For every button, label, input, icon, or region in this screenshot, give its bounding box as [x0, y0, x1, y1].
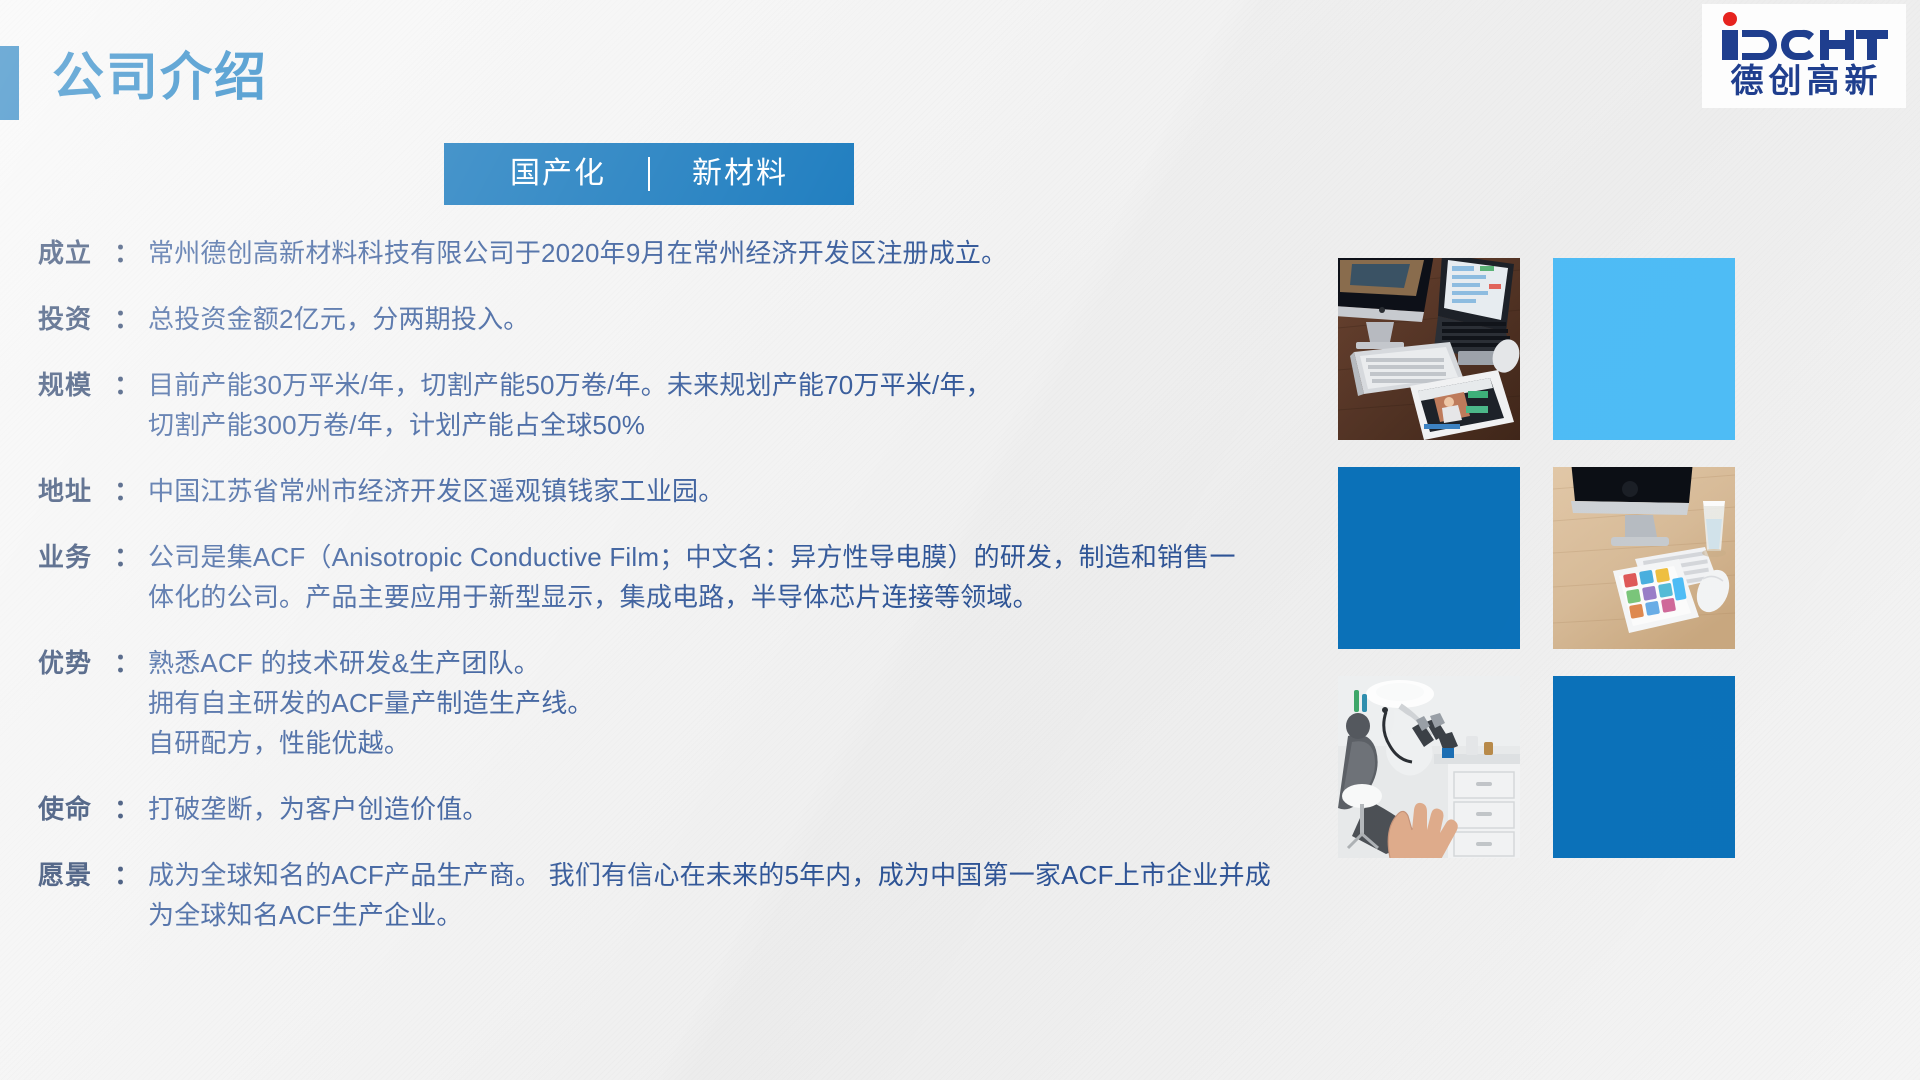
entry-line: 常州德创高新材料科技有限公司于2020年9月在常州经济开发区注册成立。 [148, 233, 1007, 273]
entry-line: 拥有自主研发的ACF量产制造生产线。 [148, 683, 594, 723]
light-blue-block [1553, 258, 1735, 440]
entry-line: 打破垄断，为客户创造价值。 [148, 789, 489, 829]
info-entry-business: 业务 ： 公司是集ACF（Anisotropic Conductive Film… [38, 537, 1318, 617]
entry-colon: ： [114, 299, 148, 339]
entry-body: 常州德创高新材料科技有限公司于2020年9月在常州经济开发区注册成立。 [148, 233, 1007, 273]
dental-equipment-hand-photo [1338, 676, 1520, 858]
entry-body: 目前产能30万平米/年，切割产能50万卷/年。未来规划产能70万平米/年， 切割… [148, 365, 992, 445]
entry-line: 熟悉ACF 的技术研发&生产团队。 [148, 643, 594, 683]
entry-line: 中国江苏省常州市经济开发区遥观镇钱家工业园。 [148, 471, 724, 511]
entry-label: 投资 [38, 299, 114, 339]
entry-colon: ： [114, 471, 148, 511]
tagline-divider [648, 157, 650, 191]
entry-line: 成为全球知名的ACF产品生产商。 我们有信心在未来的5年内，成为中国第一家ACF… [148, 855, 1271, 895]
entry-line: 总投资金额2亿元，分两期投入。 [148, 299, 529, 339]
blue-block [1338, 467, 1520, 649]
entry-label: 使命 [38, 789, 114, 829]
info-entry-advantages: 优势 ： 熟悉ACF 的技术研发&生产团队。 拥有自主研发的ACF量产制造生产线… [38, 643, 1318, 763]
info-entry-vision: 愿景 ： 成为全球知名的ACF产品生产商。 我们有信心在未来的5年内，成为中国第… [38, 855, 1318, 935]
blue-block [1553, 676, 1735, 858]
entry-body: 打破垄断，为客户创造价值。 [148, 789, 489, 829]
entry-body: 成为全球知名的ACF产品生产商。 我们有信心在未来的5年内，成为中国第一家ACF… [148, 855, 1271, 935]
company-logo: 德创高新 [1702, 4, 1906, 108]
entry-colon: ： [114, 643, 148, 683]
entry-line: 目前产能30万平米/年，切割产能50万卷/年。未来规划产能70万平米/年， [148, 365, 992, 405]
info-entry-mission: 使命 ： 打破垄断，为客户创造价值。 [38, 789, 1318, 829]
entry-colon: ： [114, 537, 148, 577]
tagline-banner: 国产化 新材料 [444, 143, 854, 205]
tagline-right: 新材料 [692, 143, 788, 205]
entry-label: 规模 [38, 365, 114, 405]
entry-colon: ： [114, 365, 148, 405]
entry-colon: ： [114, 233, 148, 273]
entry-label: 业务 [38, 537, 114, 577]
entry-line: 切割产能300万卷/年，计划产能占全球50% [148, 405, 992, 445]
entry-label: 成立 [38, 233, 114, 273]
desk-imac-laptop-tablet-photo [1338, 258, 1520, 440]
desk-imac-tablet-mouse-photo [1553, 467, 1735, 649]
logo-subtitle: 德创高新 [1726, 62, 1883, 100]
entry-line: 自研配方，性能优越。 [148, 723, 594, 763]
image-gallery-grid [1338, 258, 1735, 858]
tagline-left: 国产化 [510, 143, 606, 205]
dcht-wordmark-icon [1718, 12, 1890, 60]
info-entry-scale: 规模 ： 目前产能30万平米/年，切割产能50万卷/年。未来规划产能70万平米/… [38, 365, 1318, 445]
entry-line: 体化的公司。产品主要应用于新型显示，集成电路，半导体芯片连接等领域。 [148, 577, 1236, 617]
entry-body: 熟悉ACF 的技术研发&生产团队。 拥有自主研发的ACF量产制造生产线。 自研配… [148, 643, 594, 763]
company-info-list: 成立 ： 常州德创高新材料科技有限公司于2020年9月在常州经济开发区注册成立。… [38, 233, 1318, 961]
entry-label: 愿景 [38, 855, 114, 895]
info-entry-investment: 投资 ： 总投资金额2亿元，分两期投入。 [38, 299, 1318, 339]
entry-body: 公司是集ACF（Anisotropic Conductive Film；中文名：… [148, 537, 1236, 617]
slide-canvas: 公司介绍 德创高新 国产化 [0, 0, 1920, 1080]
entry-label: 优势 [38, 643, 114, 683]
entry-colon: ： [114, 855, 148, 895]
entry-line: 为全球知名ACF生产企业。 [148, 895, 1271, 935]
page-title: 公司介绍 [52, 40, 268, 116]
entry-body: 总投资金额2亿元，分两期投入。 [148, 299, 529, 339]
entry-colon: ： [114, 789, 148, 829]
entry-label: 地址 [38, 471, 114, 511]
entry-body: 中国江苏省常州市经济开发区遥观镇钱家工业园。 [148, 471, 724, 511]
entry-line: 公司是集ACF（Anisotropic Conductive Film；中文名：… [148, 537, 1236, 577]
info-entry-establishment: 成立 ： 常州德创高新材料科技有限公司于2020年9月在常州经济开发区注册成立。 [38, 233, 1318, 273]
title-accent-bar [0, 46, 19, 120]
info-entry-address: 地址 ： 中国江苏省常州市经济开发区遥观镇钱家工业园。 [38, 471, 1318, 511]
